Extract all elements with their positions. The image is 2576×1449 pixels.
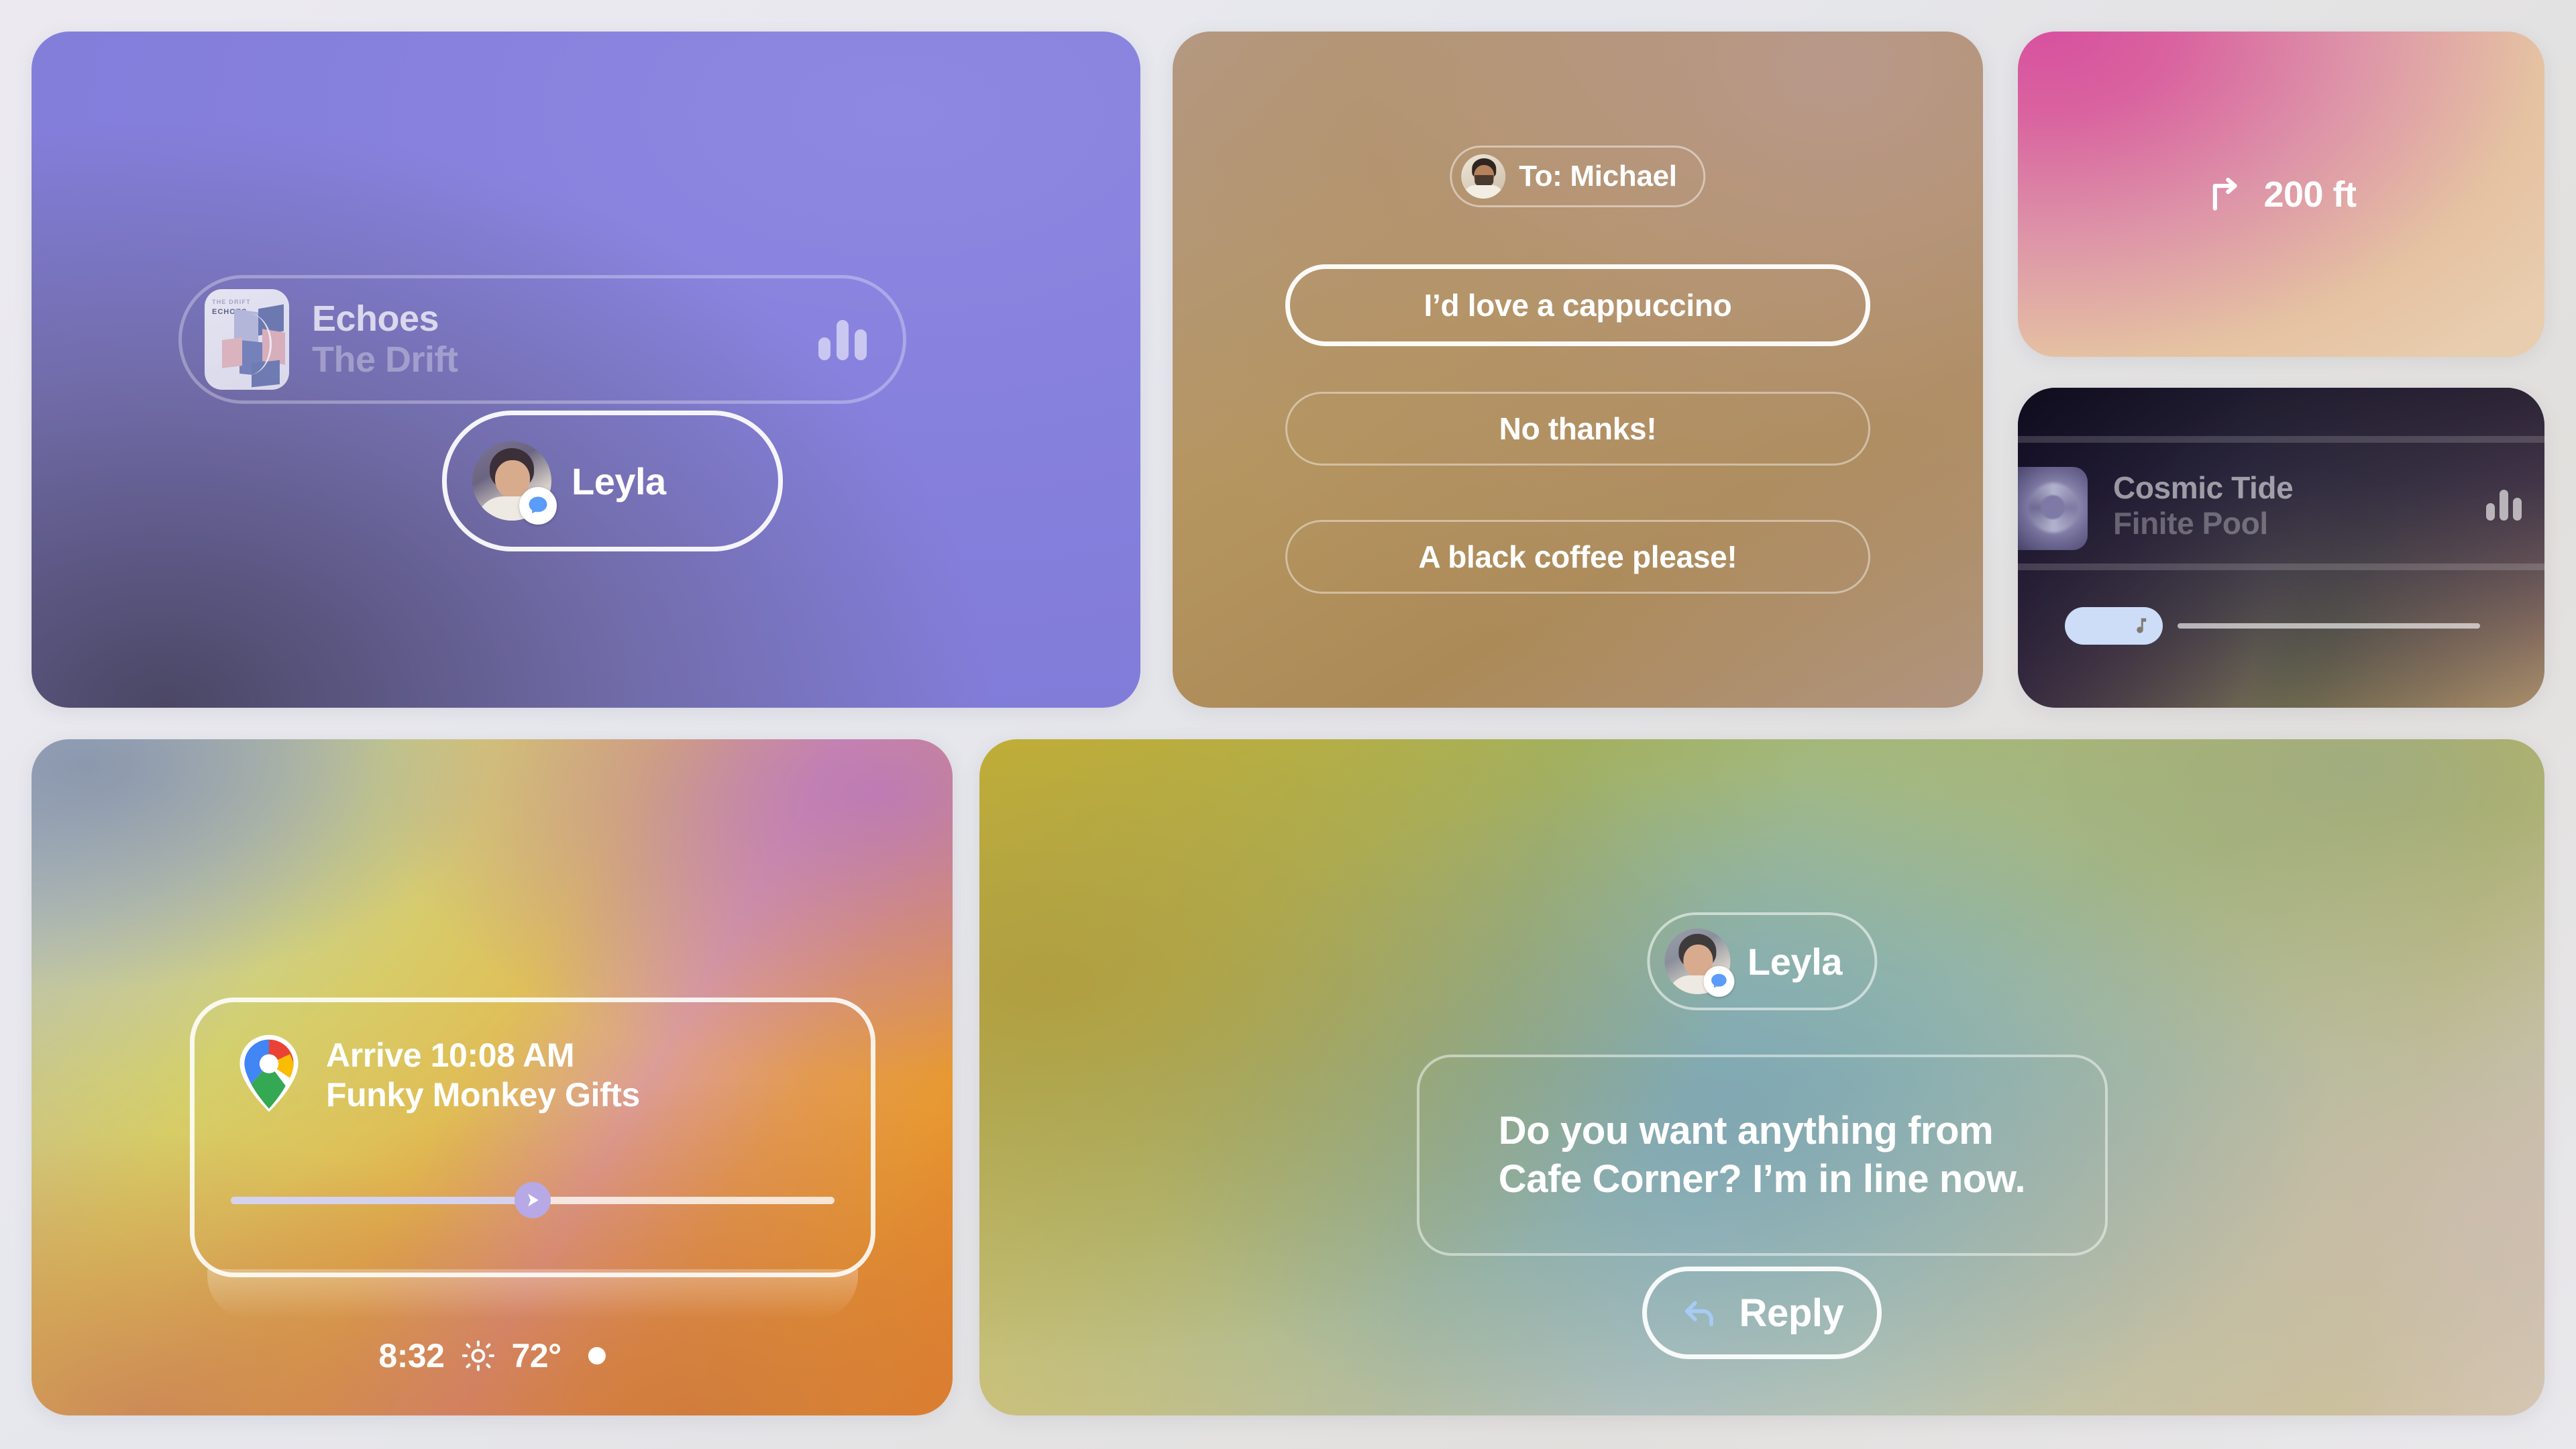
now-playing-pill[interactable]: THE DRIFT ECHOES Echoes The Drift	[178, 275, 906, 404]
route-progress[interactable]	[231, 1182, 835, 1217]
cosmic-track-artist: Finite Pool	[2113, 506, 2293, 541]
reply-option-label: A black coffee please!	[1419, 539, 1737, 575]
decorative-band	[2018, 563, 2544, 570]
reply-option-0[interactable]: I’d love a cappuccino	[1285, 264, 1870, 346]
sender-chip[interactable]: Leyla	[1647, 912, 1877, 1010]
arrival-panel[interactable]: Arrive 10:08 AM Funky Monkey Gifts	[190, 998, 875, 1277]
message-line-1: Do you want anything from	[1499, 1107, 2025, 1155]
reply-arrow-icon	[1680, 1293, 1719, 1332]
status-dot-icon	[588, 1347, 606, 1364]
navigation-arrow-icon[interactable]	[515, 1182, 551, 1218]
recipient-chip[interactable]: To: Michael	[1450, 146, 1705, 207]
turn-right-icon	[2206, 174, 2247, 215]
equalizer-bar	[837, 320, 849, 360]
cosmic-volume-slider[interactable]	[2065, 606, 2520, 645]
widget-board: THE DRIFT ECHOES Echoes The Drift	[0, 0, 2576, 1449]
reply-option-1[interactable]: No thanks!	[1285, 392, 1870, 466]
message-bubble[interactable]: Do you want anything from Cafe Corner? I…	[1417, 1055, 2108, 1256]
reply-option-label: No thanks!	[1499, 411, 1657, 447]
now-playing-meta: Echoes The Drift	[312, 300, 818, 378]
message-body: Do you want anything from Cafe Corner? I…	[1464, 1107, 2060, 1203]
music-now-playing-card[interactable]: THE DRIFT ECHOES Echoes The Drift	[32, 32, 1140, 708]
navigation-row: 200 ft	[2206, 174, 2356, 215]
avatar	[1664, 928, 1730, 994]
music-note-icon	[2128, 614, 2151, 637]
suggested-replies-card[interactable]: To: Michael I’d love a cappuccino No tha…	[1173, 32, 1983, 708]
temperature: 72°	[511, 1336, 561, 1375]
arrival-header: Arrive 10:08 AM Funky Monkey Gifts	[232, 1032, 640, 1115]
track-title: Echoes	[312, 300, 818, 338]
navigation-distance-card[interactable]: 200 ft	[2018, 32, 2544, 357]
incoming-message-card[interactable]: Leyla Do you want anything from Cafe Cor…	[979, 739, 2544, 1415]
avatar	[472, 441, 551, 521]
recipient-label: To: Michael	[1519, 160, 1676, 193]
arrival-text: Arrive 10:08 AM Funky Monkey Gifts	[326, 1036, 640, 1115]
equalizer-bar	[2486, 503, 2495, 521]
sun-icon	[462, 1340, 494, 1372]
decorative-band	[2018, 436, 2544, 443]
reply-option-2[interactable]: A black coffee please!	[1285, 520, 1870, 594]
maps-arrival-card[interactable]: Arrive 10:08 AM Funky Monkey Gifts 8:32	[32, 739, 953, 1415]
equalizer-icon	[818, 319, 867, 360]
track-artist: The Drift	[312, 341, 818, 379]
reply-button[interactable]: Reply	[1642, 1267, 1882, 1359]
messages-badge-icon	[1703, 966, 1734, 997]
equalizer-bar	[2500, 490, 2508, 521]
album-art-line1: THE DRIFT	[212, 299, 251, 305]
slider-track[interactable]	[2178, 623, 2480, 629]
cosmic-album-art	[2018, 467, 2088, 550]
cosmic-meta: Cosmic Tide Finite Pool	[2113, 471, 2293, 540]
navigation-distance: 200 ft	[2263, 174, 2356, 215]
cosmic-tide-music-card[interactable]: Cosmic Tide Finite Pool	[2018, 388, 2544, 708]
clock-time: 8:32	[378, 1336, 444, 1375]
equalizer-bar	[855, 329, 867, 360]
equalizer-bar	[2513, 498, 2522, 521]
contact-name: Leyla	[572, 460, 666, 503]
status-bar: 8:32 72°	[378, 1336, 605, 1375]
reply-button-label: Reply	[1739, 1291, 1844, 1336]
messages-badge-icon	[519, 487, 557, 525]
cosmic-track-title: Cosmic Tide	[2113, 471, 2293, 505]
cosmic-content: Cosmic Tide Finite Pool	[2018, 388, 2544, 708]
contact-chip-leyla[interactable]: Leyla	[442, 411, 783, 551]
reply-option-label: I’d love a cappuccino	[1424, 287, 1732, 323]
progress-fill	[231, 1197, 533, 1204]
google-maps-pin-icon	[232, 1032, 306, 1115]
avatar-michael	[1461, 154, 1505, 199]
slider-handle[interactable]	[2065, 607, 2163, 645]
album-curve	[225, 313, 272, 375]
equalizer-bar	[818, 337, 830, 360]
album-art-thumbnail: THE DRIFT ECHOES	[205, 289, 289, 390]
sender-name: Leyla	[1748, 940, 1842, 983]
equalizer-icon	[2486, 488, 2522, 521]
message-line-2: Cafe Corner? I’m in line now.	[1499, 1155, 2025, 1203]
destination-name: Funky Monkey Gifts	[326, 1075, 640, 1115]
arrival-time: Arrive 10:08 AM	[326, 1036, 640, 1075]
